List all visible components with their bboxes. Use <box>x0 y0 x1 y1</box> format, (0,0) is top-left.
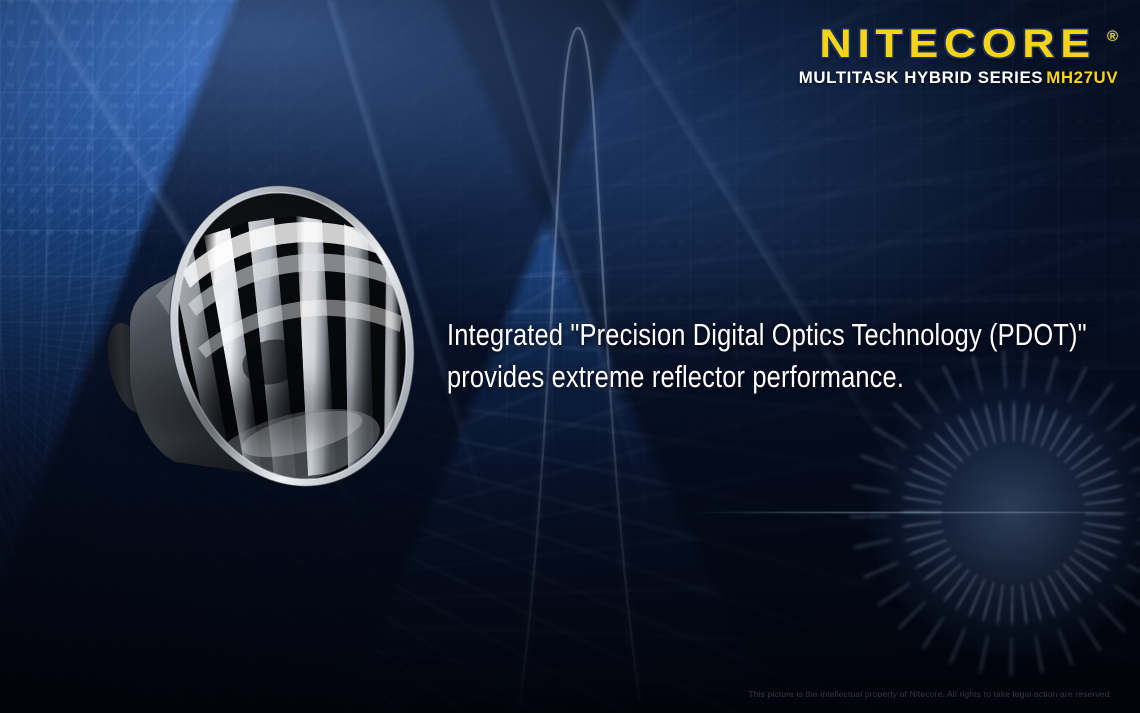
brand-logo: NITECORE ® MULTITASK HYBRID SERIESMH27UV <box>805 24 1118 88</box>
brand-tagline: MULTITASK HYBRID SERIESMH27UV <box>799 69 1118 88</box>
headline-line-1: Integrated "Precision Digital Optics Tec… <box>447 314 988 356</box>
product-drop-shadow <box>102 366 402 456</box>
product-marketing-banner: NITECORE ® MULTITASK HYBRID SERIESMH27UV… <box>0 0 1140 713</box>
product-image-reflector <box>96 176 426 496</box>
brand-series-label: MULTITASK HYBRID SERIES <box>799 69 1043 87</box>
copyright-notice: This picture is the intellectual propert… <box>748 689 1112 699</box>
brand-wordmark: NITECORE <box>820 24 1096 64</box>
brand-model-label: MH27UV <box>1046 69 1118 87</box>
registered-trademark-icon: ® <box>1107 29 1118 44</box>
headline-text: Integrated "Precision Digital Optics Tec… <box>447 314 988 398</box>
headline-line-2: provides extreme reflector performance. <box>447 356 988 398</box>
